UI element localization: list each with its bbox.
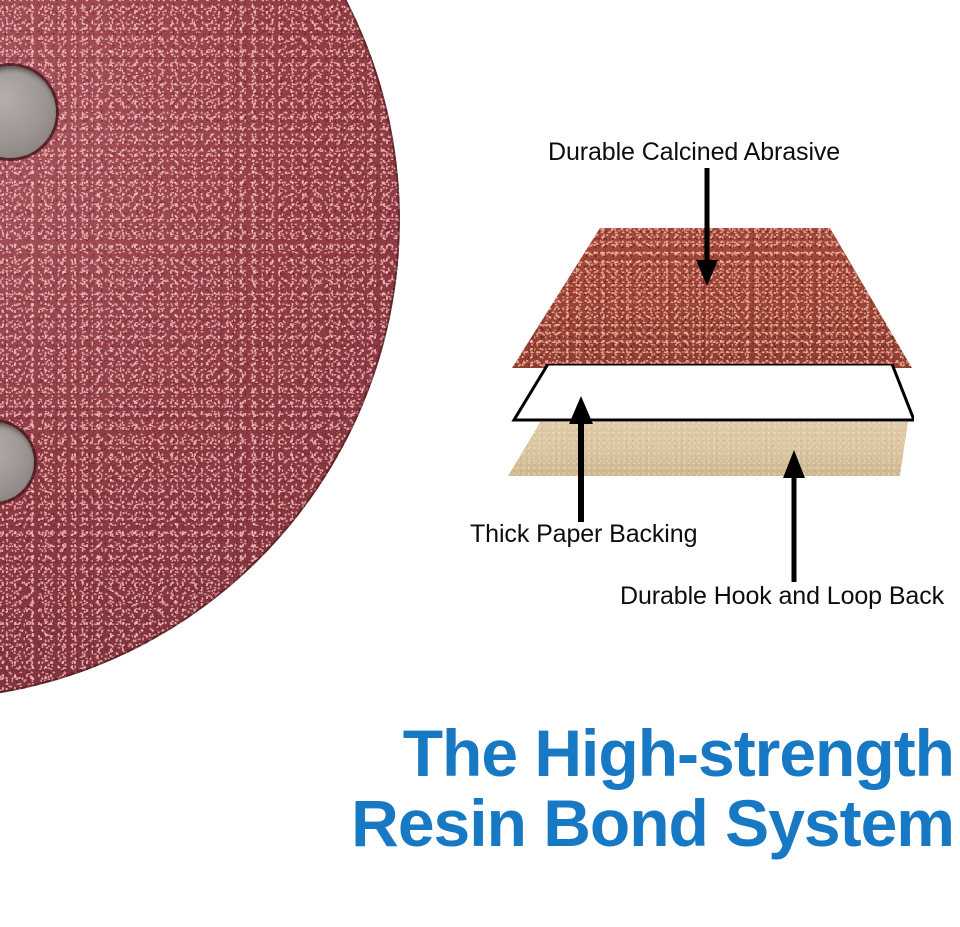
disc-edge: [0, 0, 400, 700]
arrow-hook-loop-icon: [780, 448, 808, 582]
label-calcined-abrasive: Durable Calcined Abrasive: [548, 140, 840, 165]
abrasive-sanding-disc: [0, 0, 400, 700]
headline-line-1: The High-strength: [0, 718, 954, 788]
arrow-abrasive-icon: [692, 168, 722, 290]
headline: The High-strength Resin Bond System: [0, 718, 960, 858]
infographic-canvas: Durable Calcined Abrasive Thick Paper Ba…: [0, 0, 960, 927]
headline-line-2: Resin Bond System: [0, 788, 954, 858]
label-hook-and-loop-back: Durable Hook and Loop Back: [620, 584, 944, 609]
label-thick-paper-backing: Thick Paper Backing: [470, 522, 697, 547]
arrow-paper-backing-icon: [566, 394, 596, 522]
